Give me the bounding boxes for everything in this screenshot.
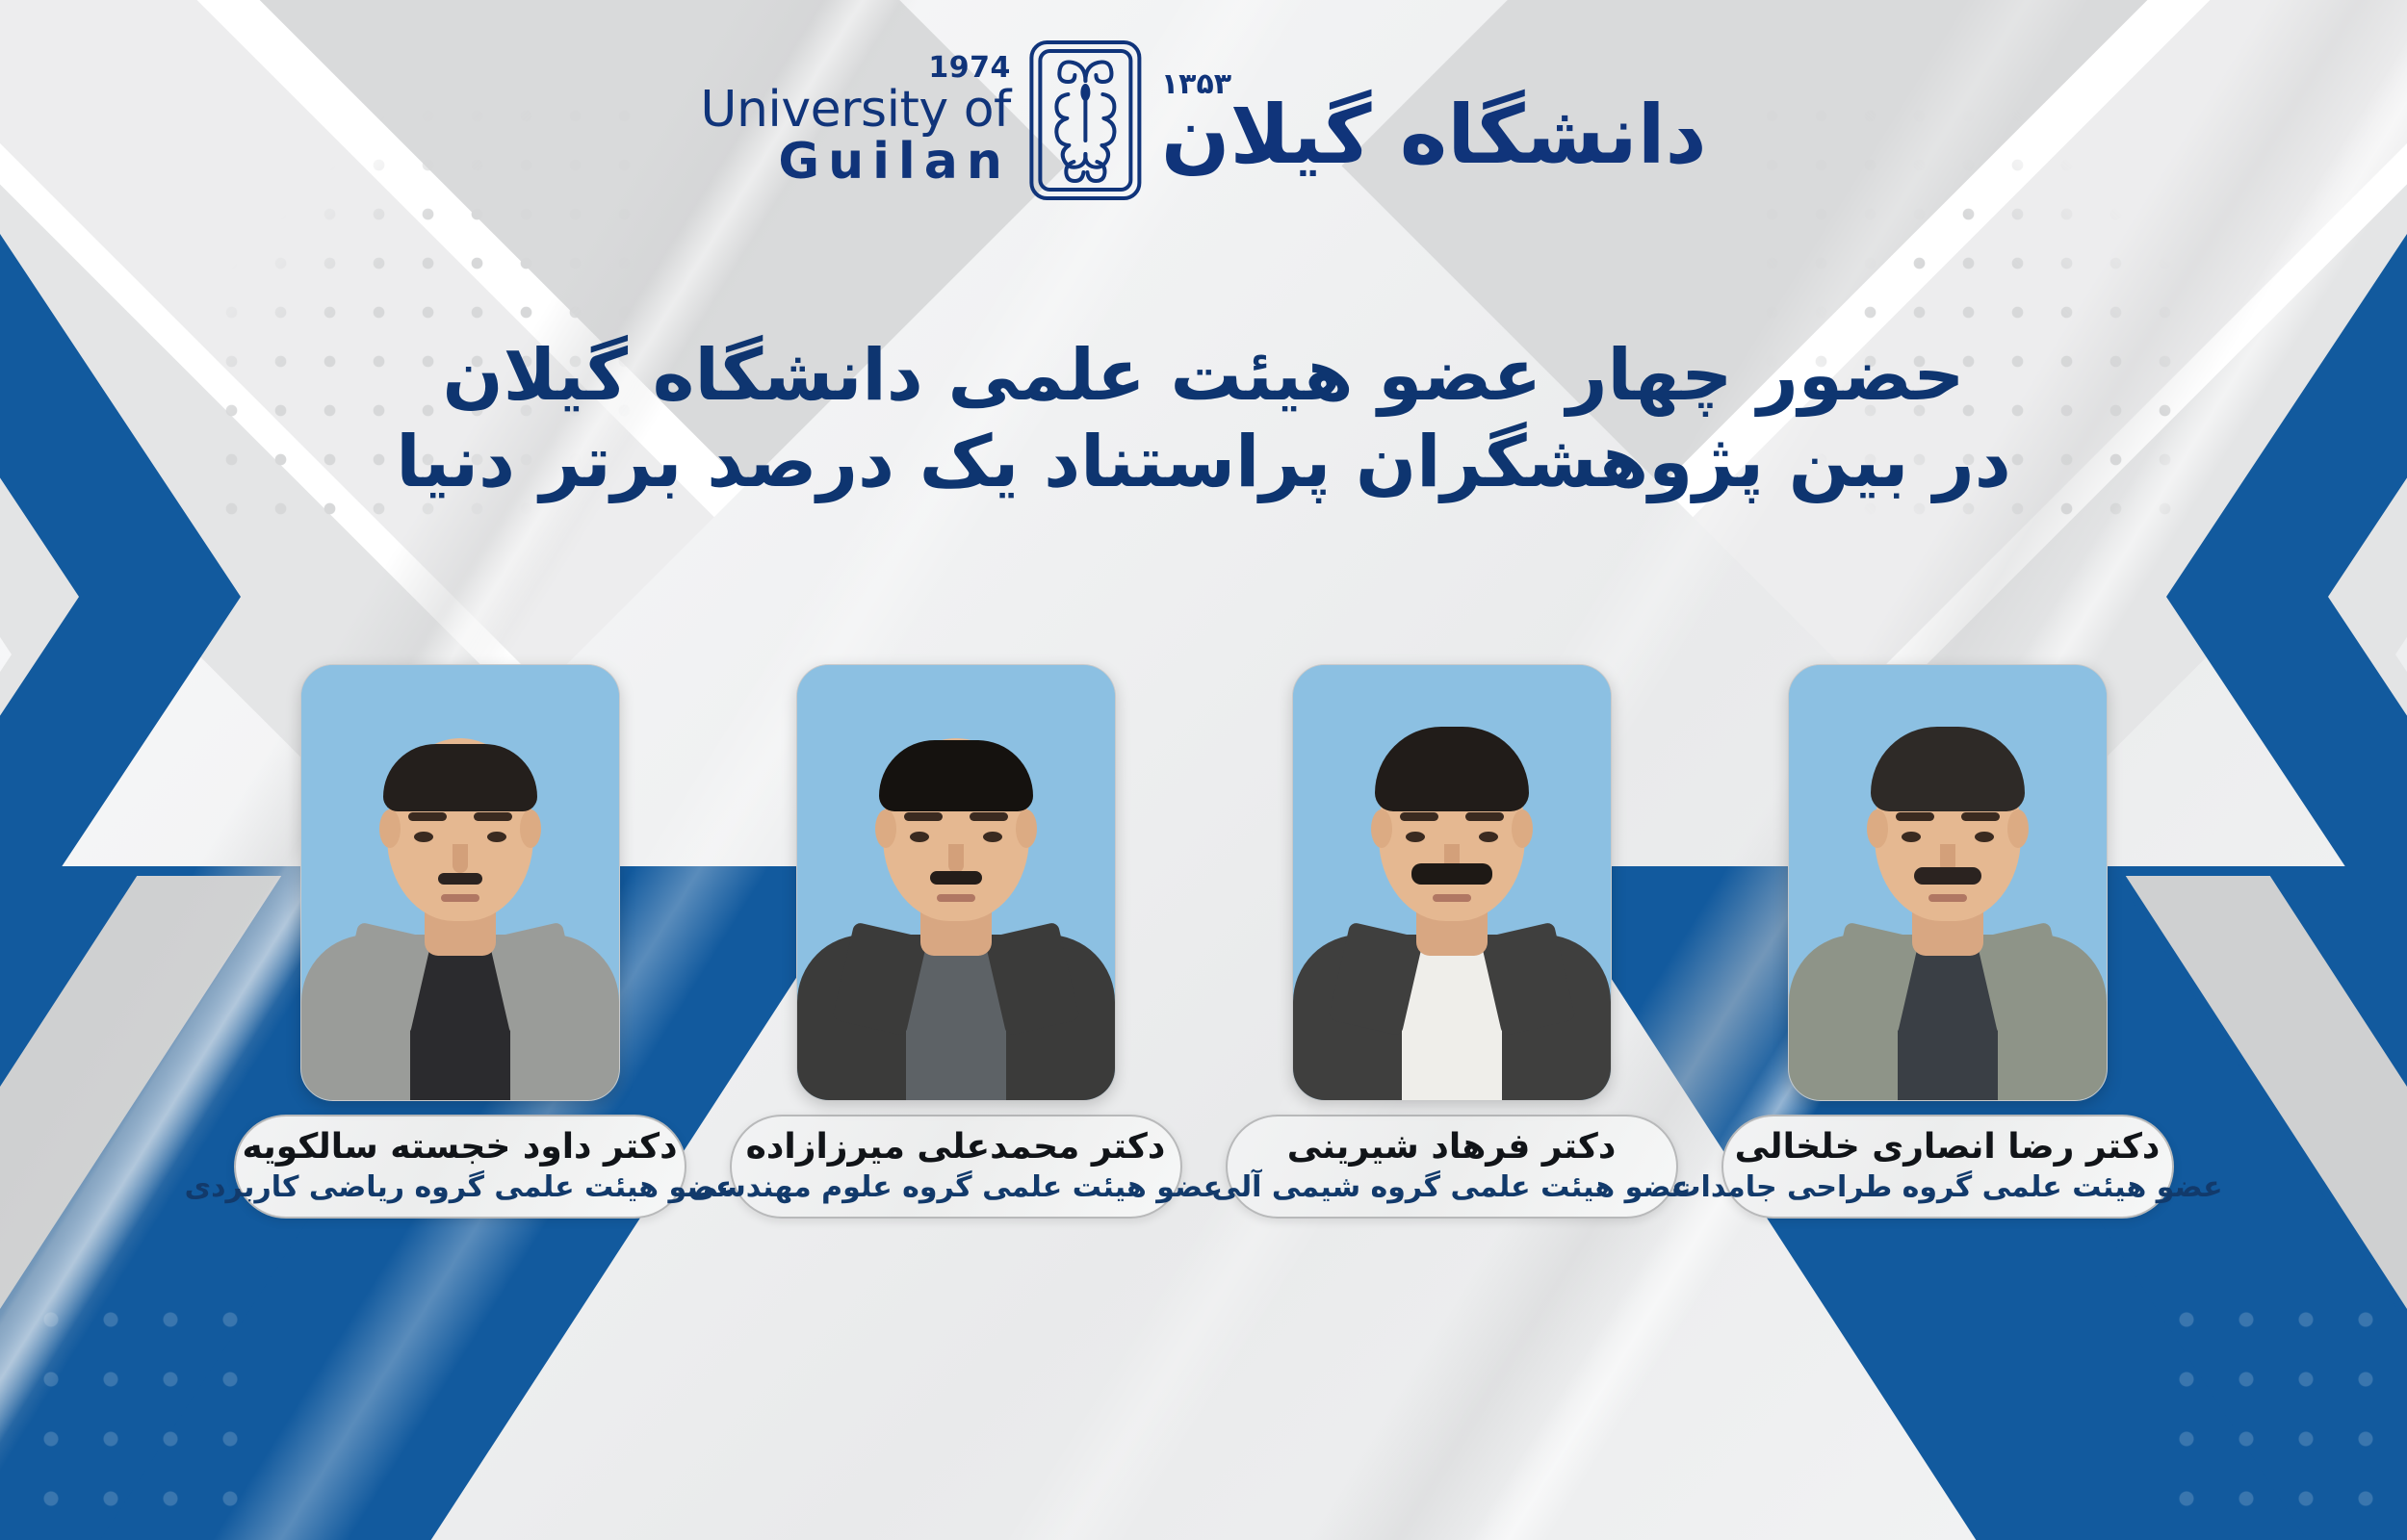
researcher-department: عضو هیئت علمی گروه علوم مهندسی	[688, 1170, 1223, 1204]
researcher-department: عضو هیئت علمی گروه شیمی آلی	[1212, 1170, 1692, 1204]
researcher-photo	[796, 664, 1116, 1101]
researcher-card[interactable]: دکتر داود خجسته سالکویه عضو هیئت علمی گر…	[212, 664, 708, 1219]
researcher-card[interactable]: دکتر فرهاد شیرینی عضو هیئت علمی گروه شیم…	[1203, 664, 1699, 1219]
page-title: حضور چهار عضو هیئت علمی دانشگاه گیلان در…	[0, 332, 2407, 506]
researcher-name: دکتر فرهاد شیرینی	[1287, 1127, 1617, 1168]
researcher-photo	[1292, 664, 1612, 1101]
researcher-photo	[300, 664, 620, 1101]
researcher-name-card: دکتر محمدعلی میرزازاده عضو هیئت علمی گرو…	[730, 1115, 1182, 1219]
dot-pattern-bottom-right	[2157, 1290, 2407, 1540]
headline-line-2: در بین پژوهشگران پراستناد یک درصد برتر د…	[0, 419, 2407, 505]
logo-year-en: 1974	[928, 54, 1011, 83]
logo-english-text: 1974 University of Guilan	[700, 54, 1010, 187]
logo-university-word: University of	[700, 85, 1010, 135]
university-logo: 1974 University of Guilan ۱۳۵۳ دانشگاه گ…	[700, 38, 1706, 202]
logo-persian-text: ۱۳۵۳ دانشگاه گیلان	[1161, 67, 1707, 174]
researcher-name-card: دکتر فرهاد شیرینی عضو هیئت علمی گروه شیم…	[1226, 1115, 1678, 1219]
dot-pattern-bottom-left	[0, 1290, 250, 1540]
researcher-name: دکتر رضا انصاری خلخالی	[1735, 1127, 2161, 1168]
poster-canvas: 1974 University of Guilan ۱۳۵۳ دانشگاه گ…	[0, 0, 2407, 1540]
logo-guilan-word: Guilan	[778, 137, 1010, 187]
researcher-name-card: دکتر رضا انصاری خلخالی عضو هیئت علمی گرو…	[1721, 1115, 2174, 1219]
researcher-name: دکتر محمدعلی میرزازاده	[746, 1127, 1166, 1168]
researcher-card[interactable]: دکتر محمدعلی میرزازاده عضو هیئت علمی گرو…	[708, 664, 1203, 1219]
guilan-crest-icon	[1028, 38, 1144, 202]
researcher-department: عضو هیئت علمی گروه ریاضی کاربردی	[185, 1170, 736, 1204]
headline-line-1: حضور چهار عضو هیئت علمی دانشگاه گیلان	[0, 332, 2407, 419]
logo-university-name-fa: دانشگاه گیلان	[1161, 97, 1707, 174]
researcher-list: دکتر رضا انصاری خلخالی عضو هیئت علمی گرو…	[0, 664, 2407, 1219]
researcher-card[interactable]: دکتر رضا انصاری خلخالی عضو هیئت علمی گرو…	[1699, 664, 2195, 1219]
researcher-department: عضو هیئت علمی گروه طراحی جامدات	[1671, 1170, 2222, 1204]
researcher-name-card: دکتر داود خجسته سالکویه عضو هیئت علمی گر…	[234, 1115, 686, 1219]
researcher-name: دکتر داود خجسته سالکویه	[242, 1127, 677, 1168]
researcher-photo	[1788, 664, 2108, 1101]
